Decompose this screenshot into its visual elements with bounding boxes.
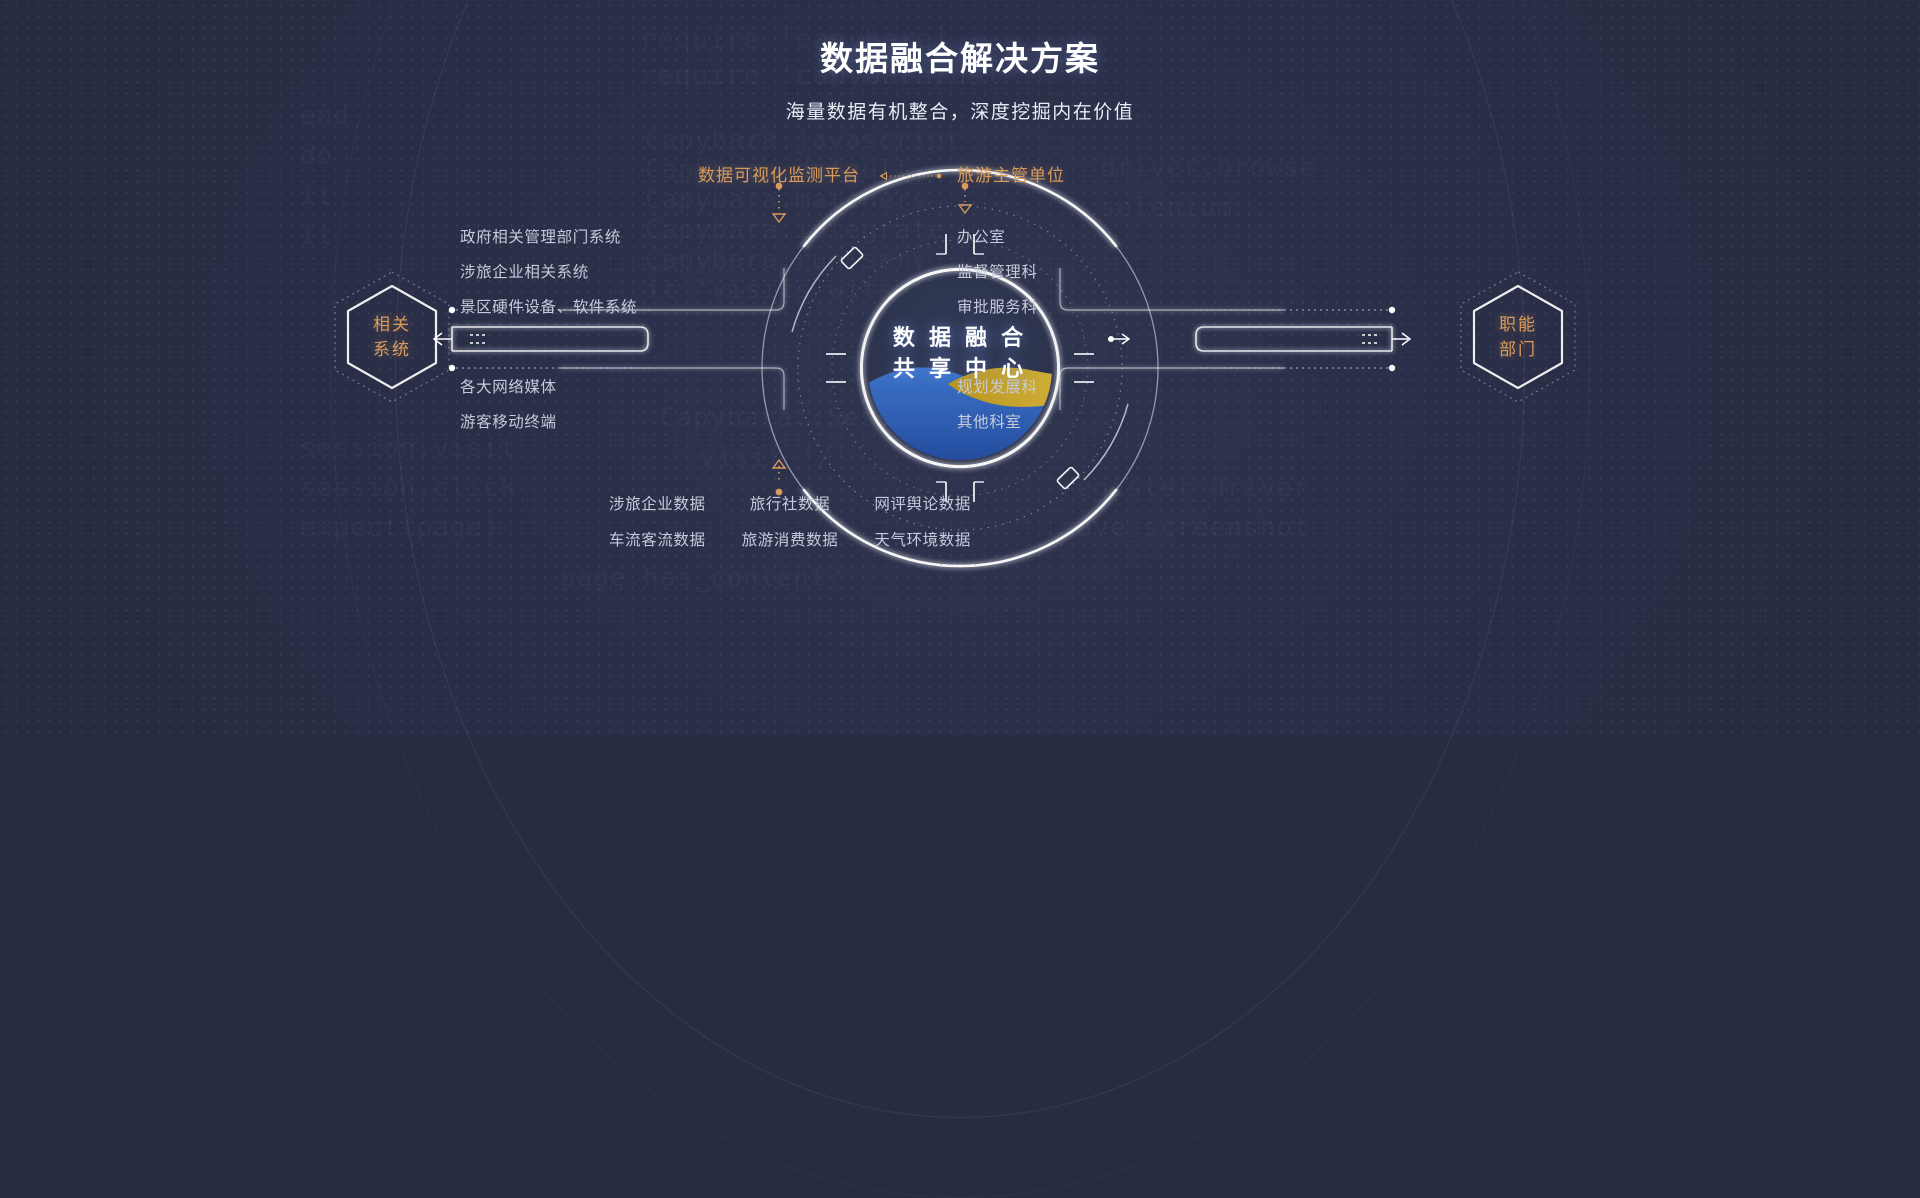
list-right-top: 办公室 监督管理科 审批服务科 <box>957 225 1038 330</box>
hex-left-line2: 系统 <box>373 337 411 362</box>
hexagon-functional-departments[interactable]: 职能 部门 <box>1458 270 1578 404</box>
page-subtitle: 海量数据有机整合，深度挖掘内在价值 <box>0 97 1920 124</box>
list-item: 各大网络媒体 <box>460 375 557 397</box>
list-item: 游客移动终端 <box>460 410 557 432</box>
list-bottom-data: 涉旅企业数据 旅行社数据 网评舆论数据 车流客流数据 旅游消费数据 天气环境数据 <box>600 492 980 550</box>
list-item: 涉旅企业相关系统 <box>460 260 637 282</box>
hexagon-left-text: 相关 系统 <box>332 270 452 404</box>
list-item: 规划发展科 <box>957 375 1038 397</box>
bottom-ellipsis: ...... <box>0 552 1920 568</box>
list-item: 旅行社数据 <box>733 492 848 514</box>
header: 数据融合解决方案 海量数据有机整合，深度挖掘内在价值 <box>0 32 1920 124</box>
list-left-bottom: 各大网络媒体 游客移动终端 <box>460 375 557 445</box>
list-item: 网评舆论数据 <box>865 492 980 514</box>
list-item: 监督管理科 <box>957 260 1038 282</box>
hex-left-line1: 相关 <box>373 312 411 337</box>
list-item: 旅游消费数据 <box>733 528 848 550</box>
list-left-top: 政府相关管理部门系统 涉旅企业相关系统 景区硬件设备、软件系统 <box>460 225 637 330</box>
list-item: 审批服务科 <box>957 295 1038 317</box>
list-item: 其他科室 <box>957 410 1038 432</box>
list-item: 政府相关管理部门系统 <box>460 225 637 247</box>
hexagon-related-systems[interactable]: 相关 系统 <box>332 270 452 404</box>
hex-right-line1: 职能 <box>1499 312 1537 337</box>
page-title: 数据融合解决方案 <box>0 32 1920 80</box>
hex-right-line2: 部门 <box>1499 337 1537 362</box>
list-right-bottom: 规划发展科 其他科室 <box>957 375 1038 445</box>
list-item: 车流客流数据 <box>600 528 715 550</box>
list-item: 景区硬件设备、软件系统 <box>460 295 637 317</box>
hexagon-right-text: 职能 部门 <box>1458 270 1578 404</box>
list-item: 办公室 <box>957 225 1038 247</box>
list-item: 涉旅企业数据 <box>600 492 715 514</box>
list-item: 天气环境数据 <box>865 528 980 550</box>
